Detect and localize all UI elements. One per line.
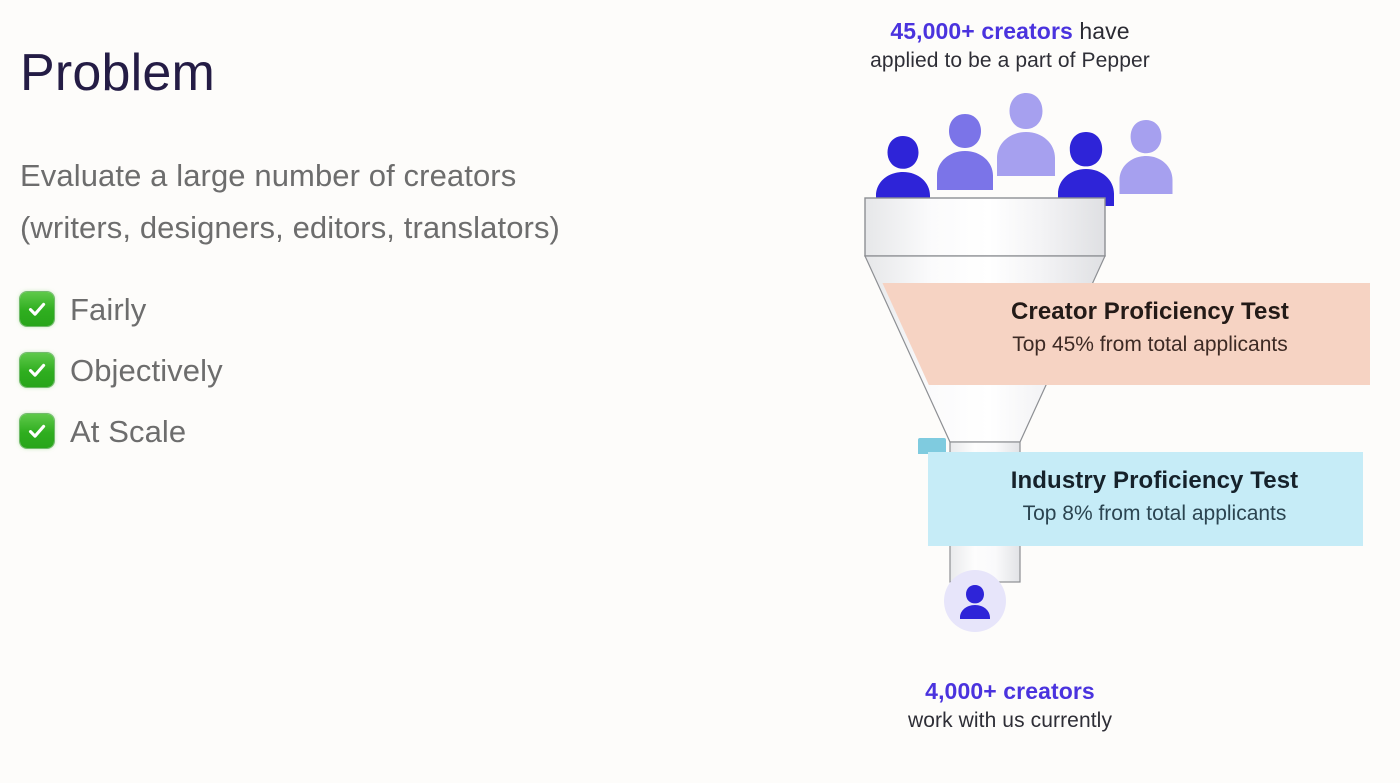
funnel-top-caption: 45,000+ creators have applied to be a pa…: [760, 16, 1260, 76]
funnel-top-highlight: 45,000+ creators: [890, 18, 1073, 44]
check-mark-button-icon: [20, 292, 54, 326]
page-title: Problem: [20, 45, 720, 102]
left-content-column: Problem Evaluate a large number of creat…: [20, 45, 720, 475]
person-icon: [958, 583, 992, 619]
funnel-top-caption-line-2: applied to be a part of Pepper: [760, 46, 1260, 76]
funnel-bottom-caption-line-2: work with us currently: [760, 706, 1260, 736]
stage-banner-industry-proficiency-test[interactable]: Industry Proficiency Test Top 8% from to…: [928, 452, 1363, 546]
list-item: Fairly: [20, 292, 720, 326]
single-creator-avatar: [944, 570, 1006, 632]
person-silhouette-2: [935, 110, 995, 190]
checklist-label: Fairly: [70, 294, 146, 325]
check-mark-button-icon: [20, 353, 54, 387]
person-silhouette-3: [995, 90, 1057, 176]
funnel-top-caption-line-1: 45,000+ creators have: [760, 16, 1260, 46]
lead-line-1: Evaluate a large number of creators: [20, 150, 720, 202]
stage-title: Creator Proficiency Test: [930, 297, 1370, 327]
funnel-bottom-caption: 4,000+ creators work with us currently: [760, 676, 1260, 736]
stage-banner-creator-proficiency-test[interactable]: Creator Proficiency Test Top 45% from to…: [860, 283, 1370, 385]
check-mark-button-icon: [20, 414, 54, 448]
stage-subtitle: Top 45% from total applicants: [930, 331, 1370, 359]
checklist-label: Objectively: [70, 355, 223, 386]
stage-title: Industry Proficiency Test: [946, 466, 1363, 496]
funnel-bottom-caption-line-1: 4,000+ creators: [760, 676, 1260, 706]
applicant-people-group: [855, 96, 1175, 206]
stage-subtitle: Top 8% from total applicants: [946, 500, 1363, 528]
funnel-diagram: 45,000+ creators have applied to be a pa…: [760, 0, 1400, 783]
funnel-bottom-highlight: 4,000+ creators: [925, 678, 1095, 704]
list-item: At Scale: [20, 414, 720, 448]
person-silhouette-5: [1117, 116, 1175, 194]
checklist: Fairly Objectively At Scale: [20, 292, 720, 448]
funnel-top-rest: have: [1073, 18, 1130, 44]
lead-paragraph: Evaluate a large number of creators (wri…: [20, 150, 720, 254]
list-item: Objectively: [20, 353, 720, 387]
slide-root: Problem Evaluate a large number of creat…: [0, 0, 1400, 783]
lead-line-2: (writers, designers, editors, translator…: [20, 202, 720, 254]
checklist-label: At Scale: [70, 416, 186, 447]
